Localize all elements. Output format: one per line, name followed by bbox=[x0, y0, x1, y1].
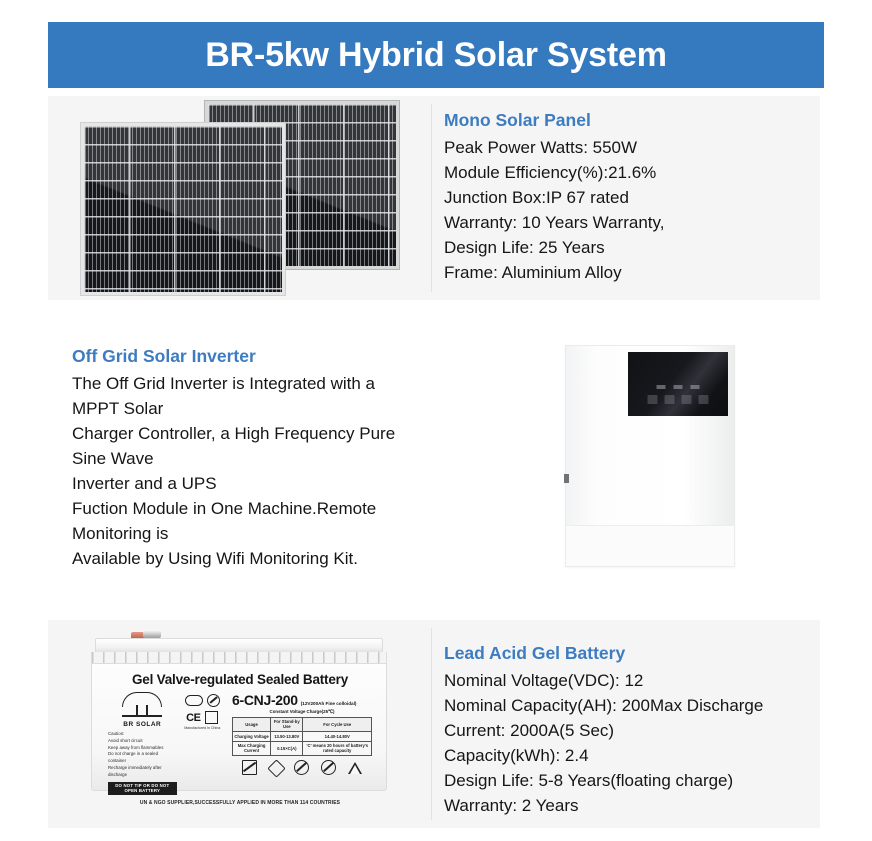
table-cell: 14.40-14.80V bbox=[303, 732, 372, 741]
spec-line: Available by Using Wifi Monitoring Kit. bbox=[72, 547, 470, 572]
section-divider bbox=[431, 628, 432, 820]
no-bin-icon bbox=[242, 760, 257, 775]
section-battery: Gel Valve-regulated Sealed Battery BR SO… bbox=[48, 620, 820, 828]
section-inverter: Off Grid Solar Inverter The Off Grid Inv… bbox=[48, 330, 820, 582]
spec-line: Inverter and a UPS bbox=[72, 472, 470, 497]
spec-line: Junction Box:IP 67 rated bbox=[444, 186, 810, 211]
table-header: For Cycle Use bbox=[303, 717, 372, 732]
battery-caution-block: Caution: Avoid short circuit Keep away f… bbox=[108, 731, 177, 779]
solar-panel-image bbox=[48, 96, 432, 300]
section-divider bbox=[431, 104, 432, 292]
table-cell: Max Charging Current bbox=[232, 741, 270, 756]
table-header-row: Usage For Stand-by Use For Cycle Use bbox=[232, 717, 371, 732]
spec-heading: Mono Solar Panel bbox=[444, 109, 810, 133]
recycle-mark-icon bbox=[205, 711, 218, 724]
product-spec-page: BR-5kw Hybrid Solar System bbox=[0, 0, 872, 841]
no-smoking-icon bbox=[207, 694, 220, 707]
battery-warning-bar: DO NOT TIP OR DO NOT OPEN BATTERY bbox=[108, 782, 177, 795]
table-cell: 13.50-13.80V bbox=[271, 732, 303, 741]
solar-cells bbox=[84, 126, 282, 292]
battery-warning-icons bbox=[232, 760, 372, 775]
caution-line: Recharge immediately after discharge bbox=[108, 765, 177, 779]
page-title: BR-5kw Hybrid Solar System bbox=[205, 38, 667, 72]
inverter-side-port bbox=[564, 474, 569, 483]
table-cell: Charging Voltage bbox=[232, 732, 270, 741]
inverter-buttons bbox=[648, 395, 709, 404]
spec-line: Design Life: 25 Years bbox=[444, 236, 810, 261]
cert-caption: Manufactured in China bbox=[177, 726, 228, 730]
spec-line: Warranty: 10 Years Warranty, bbox=[444, 211, 810, 236]
table-cell: ‘C’ means 20 hours of battery's rated ca… bbox=[303, 741, 372, 756]
battery-label-footer: UN & NGO SUPPLIER,SUCCESSFULLY APPLIED I… bbox=[108, 800, 372, 806]
br-solar-logo-icon bbox=[114, 692, 170, 720]
no-fire-icon bbox=[294, 760, 309, 775]
inverter-unit bbox=[565, 345, 735, 567]
solar-panel-specs: Mono Solar Panel Peak Power Watts: 550W … bbox=[432, 96, 820, 300]
spec-line: Frame: Aluminium Alloy bbox=[444, 261, 810, 286]
spec-line: Nominal Voltage(VDC): 12 bbox=[444, 669, 810, 694]
spec-line: Module Efficiency(%):21.6% bbox=[444, 161, 810, 186]
battery-label-title: Gel Valve-regulated Sealed Battery bbox=[108, 672, 372, 687]
battery-unit: Gel Valve-regulated Sealed Battery BR SO… bbox=[85, 624, 395, 796]
inverter-specs: Off Grid Solar Inverter The Off Grid Inv… bbox=[48, 330, 480, 582]
spec-line: Monitoring is bbox=[72, 522, 470, 547]
battery-model-note: (12V200Ah Fine colloidal) bbox=[301, 701, 357, 706]
section-solar-panel: Mono Solar Panel Peak Power Watts: 550W … bbox=[48, 96, 820, 300]
spec-line: Capacity(kWh): 2.4 bbox=[444, 744, 810, 769]
table-cell: 0.15×C(A) bbox=[271, 741, 303, 756]
battery-body: Gel Valve-regulated Sealed Battery BR SO… bbox=[91, 663, 387, 791]
battery-model-block: 6-CNJ-200(12V200Ah Fine colloidal) Const… bbox=[228, 692, 372, 795]
battery-specs: Lead Acid Gel Battery Nominal Voltage(VD… bbox=[432, 620, 820, 828]
battery-label: Gel Valve-regulated Sealed Battery BR SO… bbox=[108, 672, 372, 780]
spec-heading: Lead Acid Gel Battery bbox=[444, 642, 810, 666]
battery-spec-table: Usage For Stand-by Use For Cycle Use Cha… bbox=[232, 717, 372, 757]
no-disassemble-icon bbox=[321, 760, 336, 775]
glass-sheen bbox=[84, 126, 282, 292]
inverter-base bbox=[566, 525, 734, 566]
spec-heading: Off Grid Solar Inverter bbox=[72, 345, 470, 369]
spec-line: The Off Grid Inverter is Integrated with… bbox=[72, 372, 470, 397]
inverter-led-indicators bbox=[657, 385, 700, 389]
caution-line: Avoid short circuit bbox=[108, 738, 177, 745]
caution-line: Keep away from flammables bbox=[108, 745, 177, 752]
spec-line: Design Life: 5-8 Years(floating charge) bbox=[444, 769, 810, 794]
table-header: For Stand-by Use bbox=[271, 717, 303, 732]
terminal-cap bbox=[143, 631, 161, 638]
inverter-display-panel bbox=[628, 352, 728, 416]
battery-image: Gel Valve-regulated Sealed Battery BR SO… bbox=[48, 620, 432, 828]
spec-line: Sine Wave bbox=[72, 447, 470, 472]
battery-brand-block: BR SOLAR Caution: Avoid short circuit Ke… bbox=[108, 692, 177, 795]
spec-line: Charger Controller, a High Frequency Pur… bbox=[72, 422, 470, 447]
warning-triangle-icon bbox=[348, 762, 362, 774]
spec-line: MPPT Solar bbox=[72, 397, 470, 422]
battery-brand-name: BR SOLAR bbox=[108, 721, 177, 728]
battery-table-caption: Constant Voltage Charge(25℃) bbox=[232, 709, 372, 715]
spec-line: Nominal Capacity(AH): 200Max Discharge bbox=[444, 694, 810, 719]
spec-line: Current: 2000A(5 Sec) bbox=[444, 719, 810, 744]
table-header: Usage bbox=[232, 717, 270, 732]
spec-line: Peak Power Watts: 550W bbox=[444, 136, 810, 161]
spec-line: Fuction Module in One Machine.Remote bbox=[72, 497, 470, 522]
page-header-banner: BR-5kw Hybrid Solar System bbox=[48, 22, 824, 88]
caution-line: Do not charge in a sealed container bbox=[108, 751, 177, 765]
spec-line: Warranty: 2 Years bbox=[444, 794, 810, 819]
battery-model-number: 6-CNJ-200 bbox=[232, 692, 298, 708]
solar-panel-stack bbox=[80, 100, 400, 296]
recycle-icon bbox=[269, 761, 282, 774]
caution-title: Caution: bbox=[108, 731, 177, 738]
inverter-image bbox=[480, 330, 820, 582]
battery-certification-marks: CE Manufactured in China bbox=[177, 692, 228, 795]
table-row: Max Charging Current 0.15×C(A) ‘C’ means… bbox=[232, 741, 371, 756]
table-row: Charging Voltage 13.50-13.80V 14.40-14.8… bbox=[232, 732, 371, 741]
ul-mark-icon bbox=[185, 695, 203, 706]
ce-mark-icon: CE bbox=[186, 712, 200, 724]
solar-panel-front bbox=[80, 122, 286, 296]
